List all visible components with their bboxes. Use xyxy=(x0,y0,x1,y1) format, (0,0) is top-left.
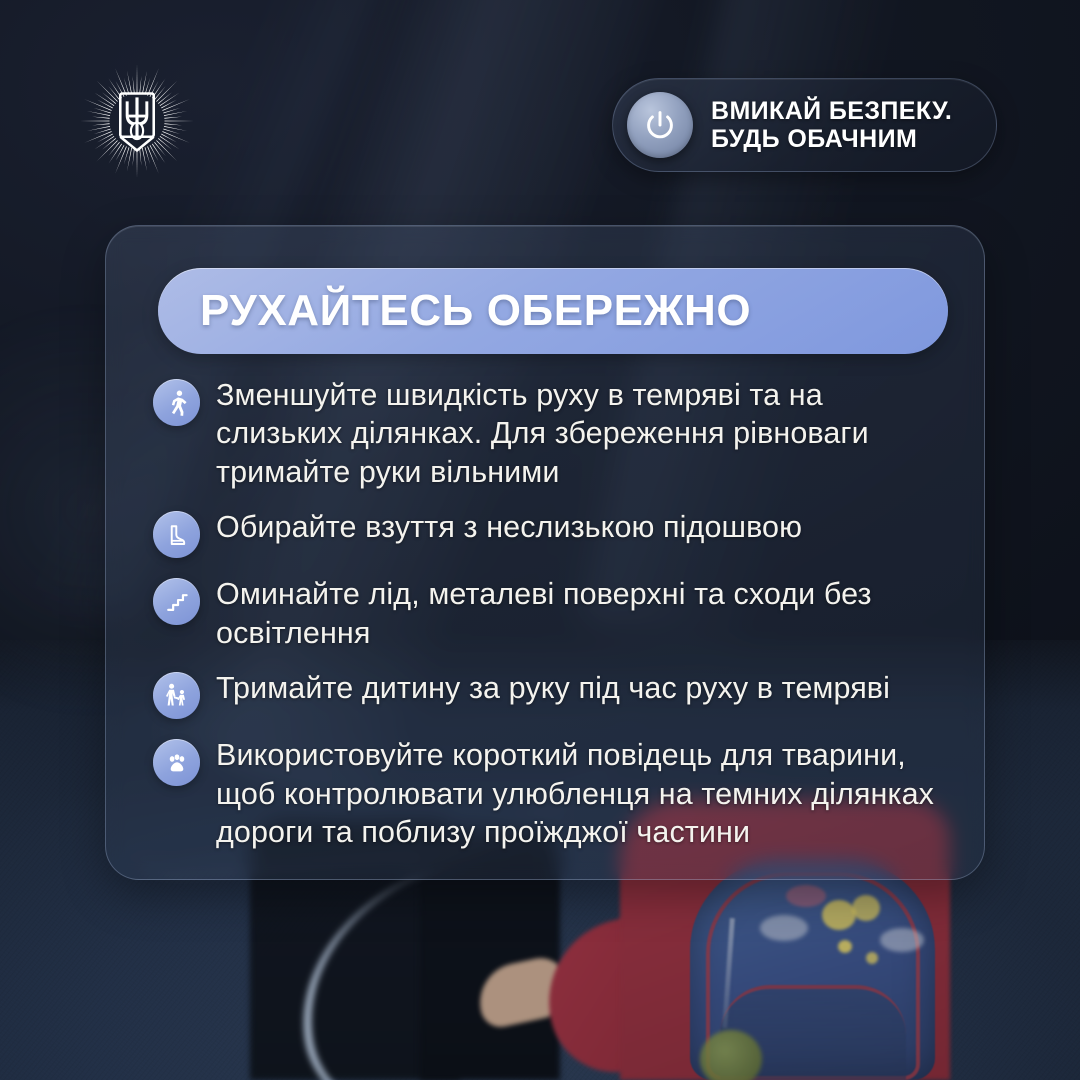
list-item-text: Зменшуйте швидкість руху в темряві та на… xyxy=(216,376,954,491)
campaign-badge[interactable]: ВМИКАЙ БЕЗПЕКУ. БУДЬ ОБАЧНИМ xyxy=(612,78,997,172)
stairs-icon xyxy=(153,578,200,625)
photo-backpack-pompom xyxy=(700,1030,762,1080)
adult-child-icon xyxy=(153,672,200,719)
photo-backpack-star xyxy=(822,900,856,930)
card-title-pill: РУХАЙТЕСЬ ОБЕРЕЖНО xyxy=(158,268,948,354)
tips-card: РУХАЙТЕСЬ ОБЕРЕЖНО Зменшуйте швидкість р… xyxy=(105,225,985,880)
list-item: Тримайте дитину за руку під час руху в т… xyxy=(153,669,954,719)
tips-list: Зменшуйте швидкість руху в темряві та на… xyxy=(153,376,954,851)
paw-icon xyxy=(153,739,200,786)
list-item: Оминайте лід, металеві поверхні та сходи… xyxy=(153,575,954,652)
list-item-text: Використовуйте короткий повідець для тва… xyxy=(216,736,954,851)
page-title: РУХАЙТЕСЬ ОБЕРЕЖНО xyxy=(158,286,751,336)
pedestrian-icon xyxy=(153,379,200,426)
badge-line-1: ВМИКАЙ БЕЗПЕКУ. xyxy=(711,97,952,125)
list-item-text: Обирайте взуття з неслизькою підошвою xyxy=(216,508,802,546)
power-icon xyxy=(627,92,693,158)
photo-backpack-cloud xyxy=(880,928,924,952)
badge-line-2: БУДЬ ОБАЧНИМ xyxy=(711,125,952,153)
photo-backpack-star xyxy=(866,952,878,964)
photo-backpack-pattern xyxy=(786,885,826,907)
campaign-badge-text: ВМИКАЙ БЕЗПЕКУ. БУДЬ ОБАЧНИМ xyxy=(711,97,952,153)
photo-backpack-cloud xyxy=(760,915,808,941)
list-item: Зменшуйте швидкість руху в темряві та на… xyxy=(153,376,954,491)
boot-icon xyxy=(153,511,200,558)
ukraine-mia-emblem xyxy=(78,62,196,180)
list-item-text: Тримайте дитину за руку під час руху в т… xyxy=(216,669,890,707)
list-item: Використовуйте короткий повідець для тва… xyxy=(153,736,954,851)
photo-backpack-star xyxy=(838,940,852,953)
poster-root: ВМИКАЙ БЕЗПЕКУ. БУДЬ ОБАЧНИМ РУХАЙТЕСЬ О… xyxy=(0,0,1080,1080)
photo-backpack-star xyxy=(852,895,880,921)
list-item-text: Оминайте лід, металеві поверхні та сходи… xyxy=(216,575,954,652)
list-item: Обирайте взуття з неслизькою підошвою xyxy=(153,508,954,558)
